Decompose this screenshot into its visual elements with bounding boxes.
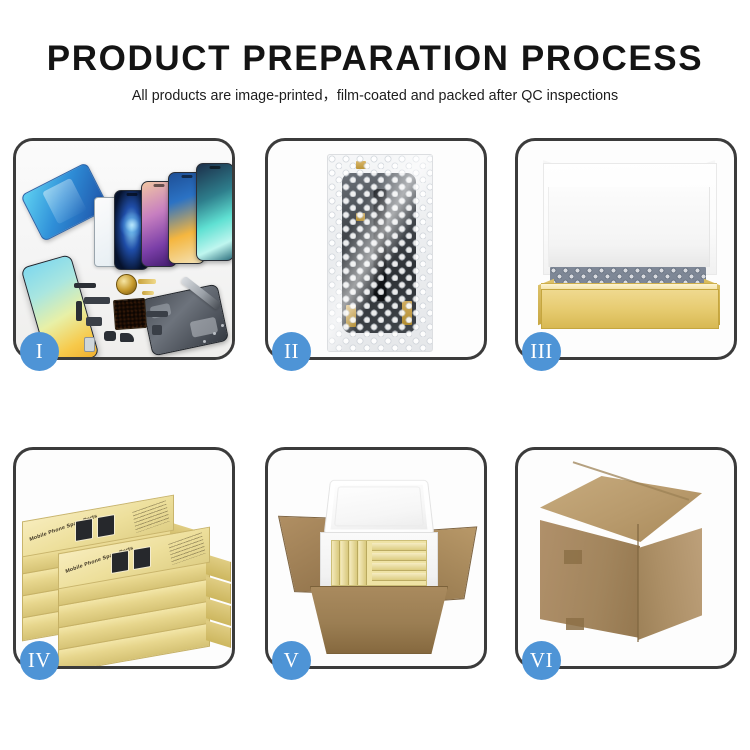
box-edge [372,573,426,581]
process-step-panel-3 [515,138,737,360]
photo-product-assortment [16,141,232,357]
process-step-panel-4: Mobile Phone Spare Parts Mobile Phone Sp… [13,447,235,669]
bubble-wrap-texture [328,155,432,351]
chipset-image [113,298,147,330]
vibration-motor-image [116,274,137,295]
flex-cable-image [84,297,110,304]
step-badge-1: I [20,332,59,371]
page-subtitle: All products are image-printed，film-coat… [0,87,750,105]
carton-vertical-edge [637,524,639,642]
box-label-phone-thumb [75,518,93,542]
screw-image [213,332,217,336]
notch-detail [210,166,221,169]
box-label-phone-thumb [133,546,151,570]
notch-detail [126,193,137,196]
carton-hand-hole [566,618,584,630]
step-badge-6: VI [522,641,561,680]
flex-cable-image [146,311,168,317]
connector-image [142,291,154,295]
phone-screen-image-4 [196,163,234,261]
foam-lid-image [324,480,435,536]
carton-side-face [638,528,702,640]
process-step-panel-6 [515,447,737,669]
process-step-panel-2 [265,138,487,360]
step-badge-2: II [272,332,311,371]
box-edge [372,563,426,571]
carton-hand-hole [564,550,582,564]
box-edge [359,541,367,585]
box-edge [372,543,426,551]
step-badge-5: V [272,641,311,680]
box-edge [332,541,340,585]
photo-sealed-shipping-carton [518,450,734,666]
foam-lid-face [548,187,710,267]
page-title: PRODUCT PREPARATION PROCESS [0,38,750,80]
box-edge [350,541,358,585]
box-label-spec-lines [168,532,205,565]
carton-front-face [540,520,640,638]
poly-bag-image [327,154,433,352]
photo-inner-box-packing [518,141,734,357]
button-part-image [152,325,162,335]
process-step-panel-1 [13,138,235,360]
yellow-boxes-in-foam-image [331,540,427,586]
spare-part-image [76,301,82,321]
photo-bubble-wrap-packing [268,141,484,357]
step-badge-3: III [522,332,561,371]
box-label-phone-thumb [111,550,129,574]
cardboard-carton-image [310,586,448,654]
speaker-image [104,331,116,341]
yellow-box-front-image [541,289,719,329]
photo-foam-carton-packing [268,450,484,666]
process-step-grid: Mobile Phone Spare Parts Mobile Phone Sp… [13,138,737,678]
screw-image [203,340,207,344]
box-label-phone-thumb [97,514,115,538]
notch-detail [154,184,165,187]
product-preparation-infographic: PRODUCT PREPARATION PROCESS All products… [0,0,750,750]
flex-cable-image [86,317,102,326]
camera-module-image [120,333,134,342]
step-badge-4: IV [20,641,59,680]
notch-detail [181,175,192,178]
process-step-panel-5 [265,447,487,669]
box-stack-image: Mobile Phone Spare Parts Mobile Phone Sp… [22,464,230,660]
box-edge [341,541,349,585]
sim-tray-image [84,337,95,352]
box-edge [372,553,426,561]
screw-image [221,324,225,328]
connector-image [138,279,156,284]
spare-part-image [74,283,96,288]
header: PRODUCT PREPARATION PROCESS All products… [0,38,750,105]
box-label-spec-lines [132,500,169,533]
photo-labeled-box-stack: Mobile Phone Spare Parts Mobile Phone Sp… [16,450,232,666]
